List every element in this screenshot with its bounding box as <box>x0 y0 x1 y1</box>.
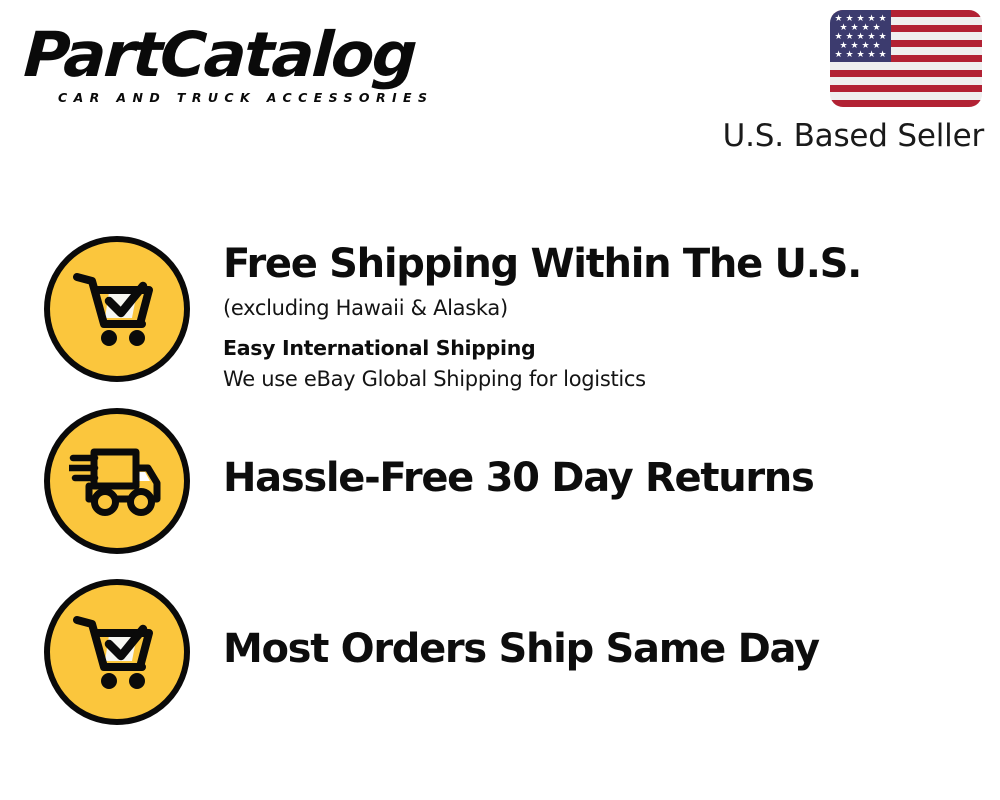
us-based-seller-badge: ★ ★ ★ ★ ★ ★ ★ ★ ★ ★ ★ ★ ★ ★ ★ ★ ★ ★ ★ ★ <box>700 10 990 155</box>
feature-title: Free Shipping Within The U.S. <box>223 240 1000 288</box>
feature-text-block: Hassle-Free 30 Day Returns <box>190 408 1000 502</box>
feature-title: Hassle-Free 30 Day Returns <box>223 454 1000 502</box>
brand-tagline: CAR AND TRUCK ACCESSORIES <box>58 90 494 105</box>
delivery-truck-icon <box>44 408 190 554</box>
shopping-cart-check-icon <box>44 236 190 382</box>
feature-row: Most Orders Ship Same Day <box>0 579 1000 750</box>
feature-row: Hassle-Free 30 Day Returns <box>0 408 1000 579</box>
feature-subtitle: (excluding Hawaii & Alaska) <box>223 293 1000 324</box>
shopping-cart-check-icon <box>44 579 190 725</box>
flag-canton: ★ ★ ★ ★ ★ ★ ★ ★ ★ ★ ★ ★ ★ ★ ★ ★ ★ ★ ★ ★ <box>830 10 891 62</box>
brand-wordmark: PartCatalog <box>22 22 505 88</box>
page-header: PartCatalog CAR AND TRUCK ACCESSORIES <box>0 0 1000 175</box>
us-based-seller-label: U.S. Based Seller <box>700 117 984 155</box>
brand-logo[interactable]: PartCatalog CAR AND TRUCK ACCESSORIES <box>24 22 494 105</box>
feature-subtitle-strong: Easy International Shipping <box>223 333 1000 363</box>
feature-row: Free Shipping Within The U.S. (excluding… <box>0 236 1000 408</box>
feature-subtitle-plain: We use eBay Global Shipping for logistic… <box>223 364 1000 395</box>
feature-text-block: Most Orders Ship Same Day <box>190 579 1000 673</box>
us-flag-icon: ★ ★ ★ ★ ★ ★ ★ ★ ★ ★ ★ ★ ★ ★ ★ ★ ★ ★ ★ ★ <box>830 10 982 107</box>
feature-text-block: Free Shipping Within The U.S. (excluding… <box>190 236 1000 395</box>
feature-title: Most Orders Ship Same Day <box>223 625 1000 673</box>
